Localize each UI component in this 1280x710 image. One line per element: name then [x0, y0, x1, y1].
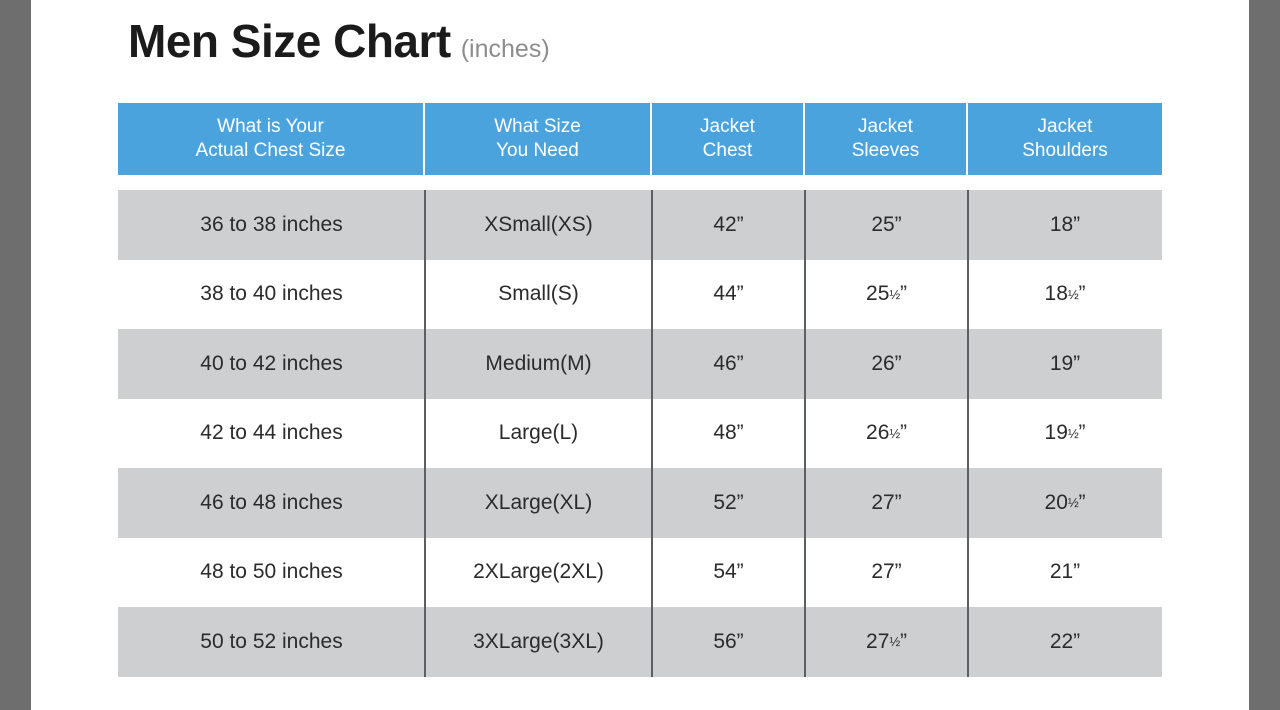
cell-jacket-sleeves: 27”: [805, 538, 968, 608]
table-header-row: What is Your Actual Chest Size What Size…: [118, 103, 1162, 175]
cell-jacket-chest: 44”: [652, 260, 805, 330]
cell-chest-range: 50 to 52 inches: [118, 607, 425, 677]
letterbox-bar-right: [1249, 0, 1280, 710]
column-header-actual-chest-size: What is Your Actual Chest Size: [118, 103, 425, 175]
cell-size: Small(S): [425, 260, 652, 330]
table-body: 36 to 38 inches XSmall(XS) 42” 25” 18” 3…: [118, 190, 1162, 677]
cell-jacket-shoulders: 19”: [968, 329, 1162, 399]
cell-jacket-chest: 46”: [652, 329, 805, 399]
cell-jacket-sleeves: 27½”: [805, 607, 968, 677]
table-row: 36 to 38 inches XSmall(XS) 42” 25” 18”: [118, 190, 1162, 260]
cell-jacket-chest: 52”: [652, 468, 805, 538]
cell-chest-range: 42 to 44 inches: [118, 399, 425, 469]
cell-jacket-chest: 42”: [652, 190, 805, 260]
cell-chest-range: 40 to 42 inches: [118, 329, 425, 399]
column-header-jacket-chest: Jacket Chest: [652, 103, 805, 175]
table-row: 40 to 42 inches Medium(M) 46” 26” 19”: [118, 329, 1162, 399]
column-divider-4: [967, 190, 969, 677]
cell-jacket-sleeves: 25”: [805, 190, 968, 260]
table-row: 42 to 44 inches Large(L) 48” 26½” 19½”: [118, 399, 1162, 469]
cell-jacket-sleeves: 26½”: [805, 399, 968, 469]
title-main-text: Men Size Chart: [128, 18, 451, 64]
column-divider-2: [651, 190, 653, 677]
size-chart-table: What is Your Actual Chest Size What Size…: [118, 103, 1162, 677]
column-divider-3: [804, 190, 806, 677]
cell-size: Large(L): [425, 399, 652, 469]
table-row: 38 to 40 inches Small(S) 44” 25½” 18½”: [118, 260, 1162, 330]
column-header-line1: What Size: [494, 115, 581, 139]
column-header-line1: Jacket: [1038, 115, 1093, 139]
cell-jacket-shoulders: 20½”: [968, 468, 1162, 538]
cell-jacket-chest: 54”: [652, 538, 805, 608]
column-header-line2: Chest: [703, 139, 753, 163]
table-row: 48 to 50 inches 2XLarge(2XL) 54” 27” 21”: [118, 538, 1162, 608]
cell-chest-range: 38 to 40 inches: [118, 260, 425, 330]
cell-jacket-shoulders: 18”: [968, 190, 1162, 260]
cell-jacket-shoulders: 19½”: [968, 399, 1162, 469]
column-header-line2: You Need: [496, 139, 579, 163]
column-header-jacket-shoulders: Jacket Shoulders: [968, 103, 1162, 175]
letterbox-bar-left: [0, 0, 31, 710]
cell-jacket-shoulders: 22”: [968, 607, 1162, 677]
column-header-jacket-sleeves: Jacket Sleeves: [805, 103, 968, 175]
cell-jacket-sleeves: 25½”: [805, 260, 968, 330]
column-header-line1: What is Your: [217, 115, 324, 139]
column-header-line2: Shoulders: [1022, 139, 1108, 163]
cell-jacket-shoulders: 18½”: [968, 260, 1162, 330]
cell-jacket-shoulders: 21”: [968, 538, 1162, 608]
column-header-line2: Actual Chest Size: [196, 139, 346, 163]
cell-size: 3XLarge(3XL): [425, 607, 652, 677]
cell-jacket-sleeves: 27”: [805, 468, 968, 538]
table-row: 50 to 52 inches 3XLarge(3XL) 56” 27½” 22…: [118, 607, 1162, 677]
cell-size: Medium(M): [425, 329, 652, 399]
cell-jacket-chest: 56”: [652, 607, 805, 677]
page-title: Men Size Chart (inches): [128, 18, 550, 64]
cell-chest-range: 36 to 38 inches: [118, 190, 425, 260]
column-header-line1: Jacket: [700, 115, 755, 139]
title-unit-text: (inches): [461, 37, 550, 62]
cell-chest-range: 48 to 50 inches: [118, 538, 425, 608]
header-body-gap: [118, 175, 1162, 190]
column-header-size-you-need: What Size You Need: [425, 103, 652, 175]
cell-jacket-sleeves: 26”: [805, 329, 968, 399]
cell-jacket-chest: 48”: [652, 399, 805, 469]
cell-size: 2XLarge(2XL): [425, 538, 652, 608]
cell-size: XLarge(XL): [425, 468, 652, 538]
cell-size: XSmall(XS): [425, 190, 652, 260]
column-header-line2: Sleeves: [852, 139, 920, 163]
cell-chest-range: 46 to 48 inches: [118, 468, 425, 538]
chart-stage: Men Size Chart (inches) What is Your Act…: [31, 0, 1249, 710]
column-divider-1: [424, 190, 426, 677]
table-row: 46 to 48 inches XLarge(XL) 52” 27” 20½”: [118, 468, 1162, 538]
column-header-line1: Jacket: [858, 115, 913, 139]
